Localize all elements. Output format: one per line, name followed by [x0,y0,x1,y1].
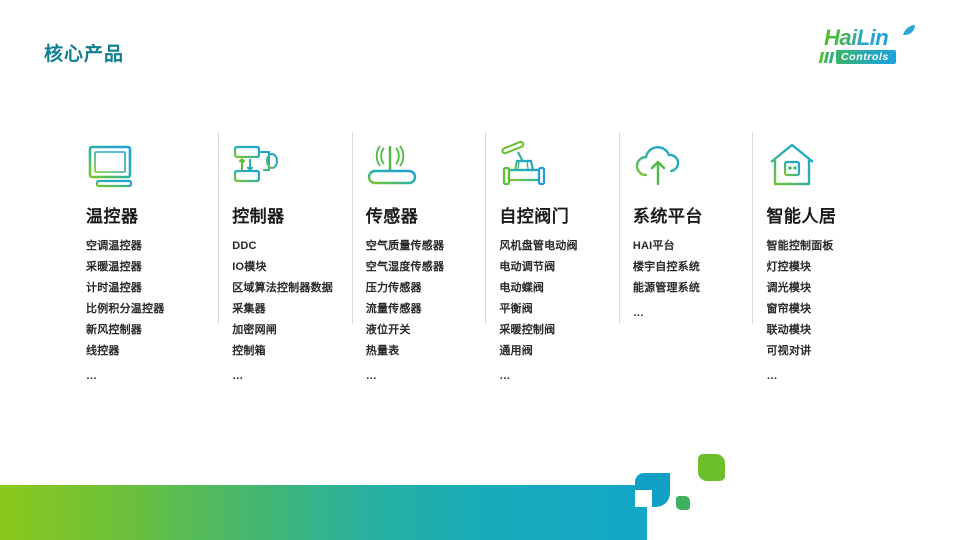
controller-module-icon [232,130,338,188]
list-item: 调光模块 [766,278,872,299]
list-item: 空气质量传感器 [366,236,472,257]
list-item: 窗帘模块 [766,299,872,320]
decor-square-small [676,496,690,510]
column-title: 温控器 [86,202,204,227]
list-item: 采暖控制阀 [499,320,605,341]
list-item: 电动调节阀 [499,257,605,278]
cloud-upload-icon [633,130,739,188]
product-column-thermostat: 温控器 空调温控器 采暖温控器 计时温控器 比例积分温控器 新风控制器 线控器 … [86,130,218,400]
list-item: 空调温控器 [86,236,204,257]
logo-bars-icon [820,52,833,63]
list-item: IO模块 [232,257,338,278]
list-item: 联动模块 [766,320,872,341]
product-column-controller: 控制器 DDC IO模块 区域算法控制器数据采集器 加密网闸 控制箱 … [218,130,352,400]
column-item-list: 空调温控器 采暖温控器 计时温控器 比例积分温控器 新风控制器 线控器 [86,236,204,362]
list-item: 液位开关 [366,320,472,341]
decor-square-large [698,454,725,481]
slide-root: 核心产品 HaiLin Controls 温 [0,0,960,540]
list-item: 线控器 [86,341,204,362]
smart-home-chip-icon [766,130,872,188]
column-ellipsis: … [366,370,472,382]
list-item: 能源管理系统 [633,278,739,299]
column-item-list: 智能控制面板 灯控模块 调光模块 窗帘模块 联动模块 可视对讲 [766,236,872,362]
column-ellipsis: … [633,307,739,319]
list-item: 新风控制器 [86,320,204,341]
product-column-sensor: 传感器 空气质量传感器 空气湿度传感器 压力传感器 流量传感器 液位开关 热量表… [352,130,486,400]
list-item: HAI平台 [633,236,739,257]
column-item-list: DDC IO模块 区域算法控制器数据采集器 加密网闸 控制箱 [232,236,338,362]
column-item-list: HAI平台 楼宇自控系统 能源管理系统 [633,236,739,299]
list-item: 热量表 [366,341,472,362]
column-title: 自控阀门 [499,202,605,227]
column-item-list: 空气质量传感器 空气湿度传感器 压力传感器 流量传感器 液位开关 热量表 [366,236,472,362]
list-item: 通用阀 [499,341,605,362]
list-item: 智能控制面板 [766,236,872,257]
monitor-icon [86,130,204,188]
product-column-valve: 自控阀门 风机盘管电动阀 电动调节阀 电动蝶阀 平衡阀 采暖控制阀 通用阀 … [485,130,619,400]
column-ellipsis: … [499,370,605,382]
list-item: 楼宇自控系统 [633,257,739,278]
list-item: 电动蝶阀 [499,278,605,299]
logo-sub-wrap: Controls [820,50,896,64]
list-item: 风机盘管电动阀 [499,236,605,257]
column-ellipsis: … [766,370,872,382]
product-column-platform: 系统平台 HAI平台 楼宇自控系统 能源管理系统 … [619,130,753,400]
column-title: 控制器 [232,202,338,227]
list-item: DDC [232,236,338,257]
logo-subtext: Controls [836,50,896,64]
product-columns: 温控器 空调温控器 采暖温控器 计时温控器 比例积分温控器 新风控制器 线控器 … [86,130,886,400]
brand-logo: HaiLin Controls [820,26,932,66]
list-item: 加密网闸 [232,320,338,341]
leaf-icon [902,25,916,36]
list-item: 区域算法控制器数据采集器 [232,278,338,320]
column-title: 传感器 [366,202,472,227]
column-ellipsis: … [232,370,338,382]
logo-wordmark: HaiLin [824,26,888,50]
footer-gradient-bar [0,485,647,540]
product-column-smart-home: 智能人居 智能控制面板 灯控模块 调光模块 窗帘模块 联动模块 可视对讲 … [752,130,886,400]
list-item: 可视对讲 [766,341,872,362]
list-item: 空气湿度传感器 [366,257,472,278]
list-item: 流量传感器 [366,299,472,320]
list-item: 计时温控器 [86,278,204,299]
list-item: 采暖温控器 [86,257,204,278]
list-item: 平衡阀 [499,299,605,320]
column-title: 智能人居 [766,202,872,227]
wireless-sensor-icon [366,130,472,188]
list-item: 灯控模块 [766,257,872,278]
list-item: 压力传感器 [366,278,472,299]
footer-notch-shape [635,473,670,507]
column-title: 系统平台 [633,202,739,227]
list-item: 控制箱 [232,341,338,362]
list-item: 比例积分温控器 [86,299,204,320]
column-item-list: 风机盘管电动阀 电动调节阀 电动蝶阀 平衡阀 采暖控制阀 通用阀 [499,236,605,362]
column-ellipsis: … [86,370,204,382]
valve-icon [499,130,605,188]
page-title: 核心产品 [44,39,124,66]
